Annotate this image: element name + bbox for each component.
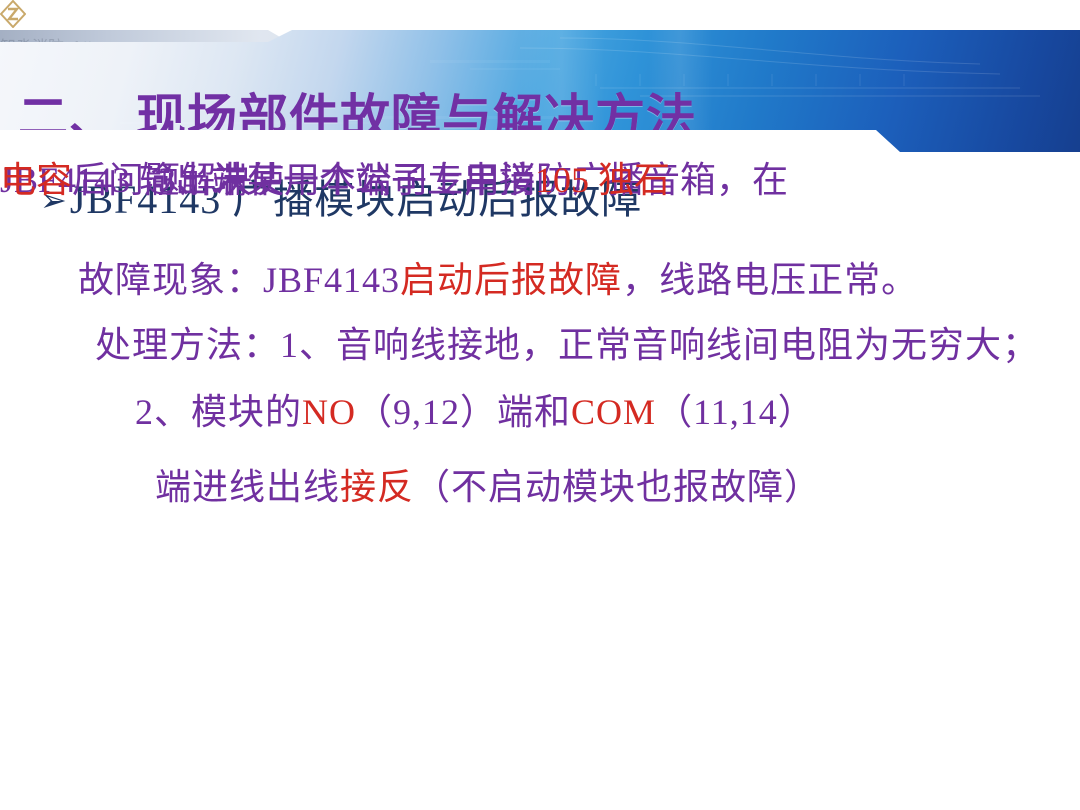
section-number: 二、 [18, 89, 120, 147]
segment-text-emphasis: 接反 [340, 467, 414, 507]
page-title: 二、现场部件故障与解决方法 [18, 88, 697, 148]
header-banner: 二、现场部件故障与解决方法 [0, 30, 1080, 152]
slide-canvas: 二、现场部件故障与解决方法 ➢JBF4143 广播模块启动后报故障 故障现象：J… [0, 0, 1080, 810]
segment-text: 端进线出线 [155, 467, 340, 507]
segment-text: （不启动模块也报故障） [414, 467, 821, 507]
text-line-method-2b: 端进线出线接反（不启动模块也报故障） [155, 467, 821, 507]
segment-text: （9,12）端和 [356, 392, 571, 432]
text-line-method-2a: 2、模块的NO（9,12）端和COM（11,14） [135, 392, 815, 432]
text-line-symptom: 故障现象：JBF4143启动后报故障，线路电压正常。 [78, 260, 918, 300]
text-line-method-1: 处理方法：1、音响线接地，正常音响线间电阻为无穷大； [95, 325, 1039, 365]
diamond-logo-icon [0, 0, 1080, 33]
segment-text: （11,14） [656, 392, 815, 432]
segment-text-emphasis: 启动后报故障 [400, 260, 622, 300]
segment-text: 2、模块的 [135, 392, 302, 432]
segment-text-emphasis: 电容 [0, 160, 72, 200]
segment-text: 后问题解决。 [72, 160, 288, 200]
segment-text: 故障现象：JBF4143 [78, 260, 400, 300]
segment-text: 处理方法：1、音响线接地，正常音响线间电阻为无穷大； [95, 325, 1039, 365]
slide-body: ➢JBF4143 广播模块启动后报故障 故障现象：JBF4143启动后报故障，线… [0, 160, 1080, 740]
text-line-method-3c: 电容后问题解决。 [0, 160, 288, 200]
section-title-text: 现场部件故障与解决方法 [136, 89, 697, 147]
segment-text-emphasis: 105 独石 [535, 160, 670, 200]
segment-text: ，线路电压正常。 [622, 260, 918, 300]
segment-text-emphasis: COM [571, 392, 656, 432]
segment-text-emphasis: NO [302, 392, 356, 432]
